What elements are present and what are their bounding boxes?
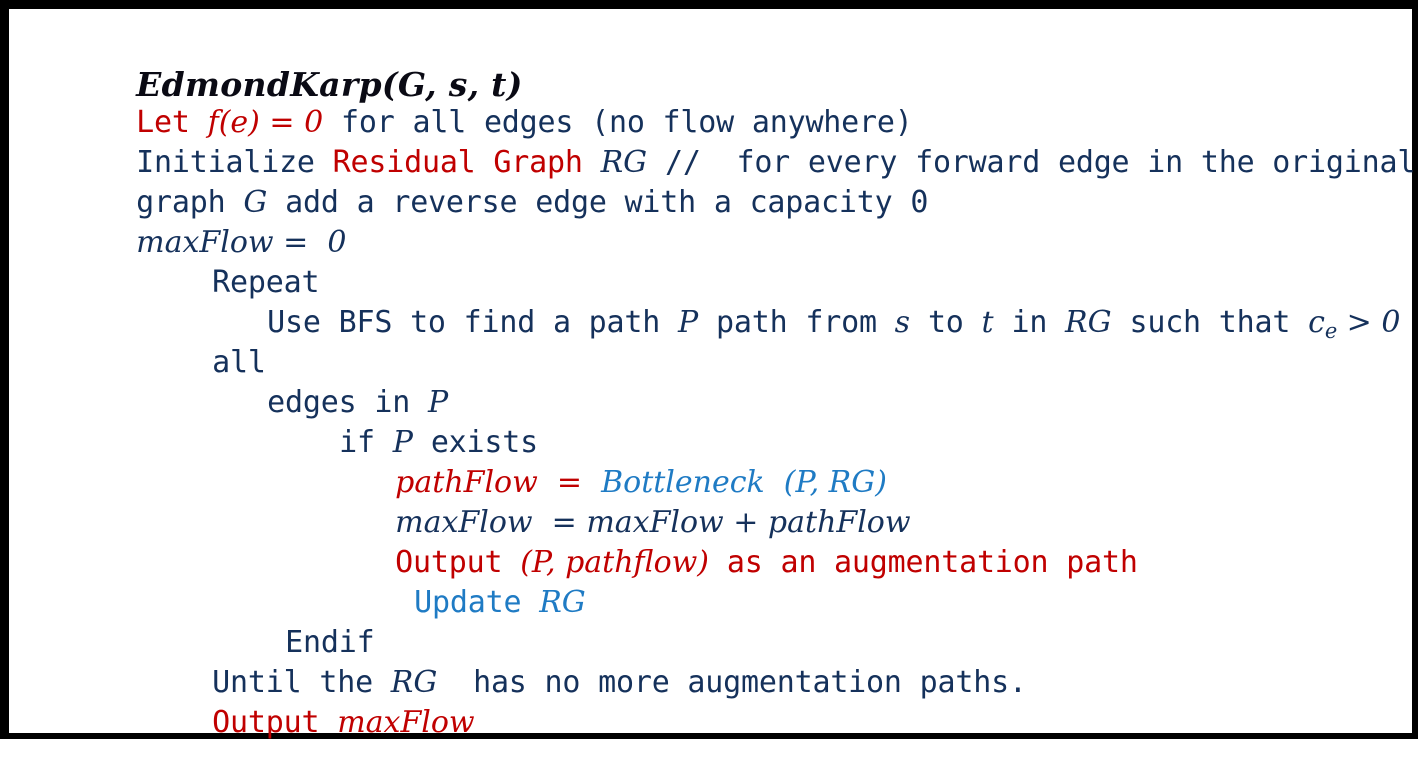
text-such-that: such that — [1112, 305, 1308, 340]
keyword-endif: Endif — [285, 625, 374, 660]
keyword-output-2: Output — [212, 705, 337, 740]
var-rg: RG — [601, 145, 648, 180]
var-p-1: P — [678, 305, 698, 340]
keyword-let: Let — [136, 105, 207, 140]
text-use-bfs: Use BFS to find a path — [267, 305, 678, 340]
pseudocode-frame: EdmondKarp(G, s, t) Let f(e) = 0 for all… — [0, 0, 1418, 739]
var-s: s — [895, 305, 910, 340]
keyword-repeat: Repeat — [212, 265, 319, 300]
text-capacity-zero: add a reverse edge with a capacity 0 — [267, 185, 928, 220]
comment-no-flow: for all edges (no flow anywhere) — [323, 105, 912, 140]
comment-forward-edge: // for every forward edge in the origina… — [647, 145, 1415, 180]
term-residual-graph: Residual Graph — [333, 145, 583, 180]
var-rg-3: RG — [539, 585, 586, 620]
var-t-letter: t — [982, 305, 994, 340]
args-p-pathflow: (P, pathflow) — [520, 545, 709, 580]
assign-maxflow-zero: maxFlow = 0 — [136, 225, 346, 260]
assign-maxflow-sum: maxFlow = maxFlow + pathFlow — [395, 505, 910, 540]
expr-flow-zero: f(e) = 0 — [208, 105, 324, 140]
var-maxflow-final: maxFlow — [337, 705, 474, 740]
text-edges-in: edges in — [267, 385, 428, 420]
subscript-e: e — [1325, 319, 1337, 343]
space-1 — [583, 145, 601, 180]
text-exists: exists — [413, 425, 538, 460]
text-to: to — [910, 305, 981, 340]
keyword-if: if — [339, 425, 393, 460]
algorithm-title-line: EdmondKarp(G, s, t) — [20, 19, 1405, 63]
code-line-endif: Endif — [20, 583, 1405, 623]
keyword-initialize: Initialize — [136, 145, 332, 180]
text-no-more-paths: has no more augmentation paths. — [437, 665, 1026, 700]
expr-gt-zero: > 0 — [1337, 305, 1400, 340]
var-p-2: P — [428, 385, 448, 420]
var-capacity-e: c — [1308, 305, 1325, 340]
assign-pathflow-lhs: pathFlow = — [395, 465, 591, 500]
word-graph: graph — [136, 185, 243, 220]
var-rg-4: RG — [391, 665, 438, 700]
var-rg-2: RG — [1065, 305, 1112, 340]
keyword-until: Until the — [212, 665, 391, 700]
text-in: in — [994, 305, 1065, 340]
algorithm-title: EdmondKarp(G, s, t) — [136, 65, 522, 104]
keyword-update: Update — [414, 585, 539, 620]
text-for: for — [1400, 305, 1418, 340]
var-p-3: P — [393, 425, 413, 460]
text-augmentation-path: as an augmentation path — [709, 545, 1138, 580]
text-path-from: path from — [698, 305, 894, 340]
text-all: all — [212, 345, 266, 380]
keyword-output-1: Output — [395, 545, 520, 580]
pseudocode-body: EdmondKarp(G, s, t) Let f(e) = 0 for all… — [20, 19, 1405, 703]
call-bottleneck: Bottleneck (P, RG) — [592, 465, 887, 500]
var-g: G — [243, 185, 267, 220]
